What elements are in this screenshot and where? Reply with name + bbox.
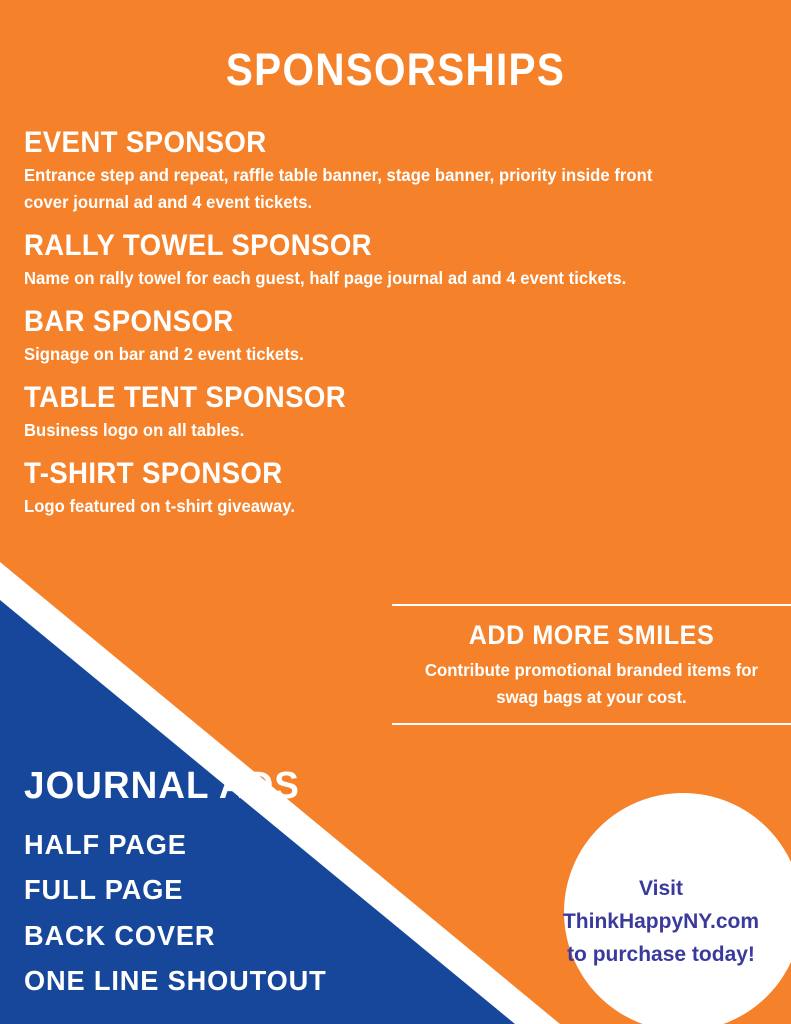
sponsorship-tier: T-SHIRT SPONSOR Logo featured on t-shirt… — [24, 458, 724, 520]
cta-website-link[interactable]: ThinkHappyNY.com — [536, 905, 786, 938]
sponsorship-tier-list: EVENT SPONSOR Entrance step and repeat, … — [24, 127, 724, 520]
tier-description: Business logo on all tables. — [24, 417, 689, 444]
page-title: SPONSORSHIPS — [40, 44, 752, 96]
journal-ad-option-half-page: HALF PAGE — [24, 822, 441, 867]
sponsorship-tier: RALLY TOWEL SPONSOR Name on rally towel … — [24, 230, 724, 292]
add-more-smiles-description: Contribute promotional branded items for… — [400, 657, 783, 723]
call-to-action: Visit ThinkHappyNY.com to purchase today… — [536, 872, 786, 972]
sponsorship-tier: EVENT SPONSOR Entrance step and repeat, … — [24, 127, 724, 216]
sponsorship-flyer: SPONSORSHIPS EVENT SPONSOR Entrance step… — [0, 0, 791, 1024]
divider-top — [392, 604, 791, 606]
cta-line-purchase: to purchase today! — [536, 938, 786, 971]
journal-ad-option-one-line-shoutout: ONE LINE SHOUTOUT — [24, 958, 441, 1003]
tier-name: TABLE TENT SPONSOR — [24, 382, 668, 414]
tier-name: EVENT SPONSOR — [24, 127, 668, 159]
journal-ads-section: JOURNAL ADS HALF PAGE FULL PAGE BACK COV… — [24, 766, 454, 1003]
tier-description: Entrance step and repeat, raffle table b… — [24, 162, 689, 215]
tier-name: BAR SPONSOR — [24, 306, 668, 338]
add-more-smiles-panel: ADD MORE SMILES Contribute promotional b… — [392, 604, 791, 725]
tier-description: Name on rally towel for each guest, half… — [24, 265, 689, 292]
tier-description: Logo featured on t-shirt giveaway. — [24, 493, 689, 520]
tier-description: Signage on bar and 2 event tickets. — [24, 341, 689, 368]
journal-ads-title: JOURNAL ADS — [24, 766, 441, 808]
tier-name: RALLY TOWEL SPONSOR — [24, 230, 668, 262]
journal-ad-option-full-page: FULL PAGE — [24, 867, 441, 912]
add-more-smiles-title: ADD MORE SMILES — [406, 620, 777, 651]
sponsorship-tier: BAR SPONSOR Signage on bar and 2 event t… — [24, 306, 724, 368]
divider-bottom — [392, 723, 791, 725]
tier-name: T-SHIRT SPONSOR — [24, 458, 668, 490]
sponsorship-tier: TABLE TENT SPONSOR Business logo on all … — [24, 382, 724, 444]
journal-ad-option-back-cover: BACK COVER — [24, 913, 441, 958]
cta-line-visit: Visit — [536, 872, 786, 905]
